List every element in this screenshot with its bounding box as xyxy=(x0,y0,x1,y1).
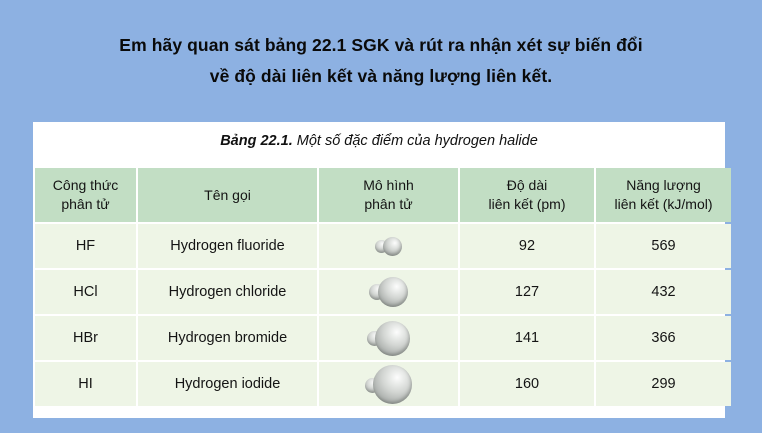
cell-bond-energy: 366 xyxy=(596,316,731,360)
question-heading: Em hãy quan sát bảng 22.1 SGK và rút ra … xyxy=(0,30,762,92)
cell-model xyxy=(319,362,458,406)
cell-formula: HI xyxy=(35,362,136,406)
question-line-1: Em hãy quan sát bảng 22.1 SGK và rút ra … xyxy=(0,30,762,61)
cell-bond-energy: 569 xyxy=(596,224,731,268)
hi-molecule-model-icon xyxy=(354,363,424,405)
slide-canvas: Em hãy quan sát bảng 22.1 SGK và rút ra … xyxy=(0,0,762,433)
column-header-name: Tên gọi xyxy=(138,168,317,222)
question-line-2: về độ dài liên kết và năng lượng liên kế… xyxy=(0,61,762,92)
cell-formula: HBr xyxy=(35,316,136,360)
cell-name: Hydrogen bromide xyxy=(138,316,317,360)
cell-bond-energy: 432 xyxy=(596,270,731,314)
cell-name: Hydrogen fluoride xyxy=(138,224,317,268)
hydrogen-halide-table: Công thức phân tử Tên gọi Mô hình phân t… xyxy=(33,166,733,408)
table-header-row: Công thức phân tử Tên gọi Mô hình phân t… xyxy=(35,168,731,222)
cell-model xyxy=(319,224,458,268)
column-header-model: Mô hình phân tử xyxy=(319,168,458,222)
cell-name: Hydrogen chloride xyxy=(138,270,317,314)
table-caption-text: Một số đặc điểm của hydrogen halide xyxy=(293,133,538,149)
cell-bond-length: 141 xyxy=(460,316,594,360)
cell-formula: HF xyxy=(35,224,136,268)
chlorine-atom-sphere xyxy=(378,277,408,307)
cell-bond-length: 160 xyxy=(460,362,594,406)
fluorine-atom-sphere xyxy=(383,237,402,256)
cell-name: Hydrogen iodide xyxy=(138,362,317,406)
table-caption-label: Bảng 22.1. xyxy=(220,133,293,149)
cell-model xyxy=(319,270,458,314)
bromine-atom-sphere xyxy=(375,321,410,356)
table-caption: Bảng 22.1. Một số đặc điểm của hydrogen … xyxy=(33,133,725,149)
table-row: HBr Hydrogen bromide 141 366 xyxy=(35,316,731,360)
cell-bond-energy: 299 xyxy=(596,362,731,406)
table-row: HCl Hydrogen chloride 127 432 xyxy=(35,270,731,314)
hcl-molecule-model-icon xyxy=(354,271,424,313)
column-header-formula: Công thức phân tử xyxy=(35,168,136,222)
column-header-bond-energy: Năng lượng liên kết (kJ/mol) xyxy=(596,168,731,222)
cell-model xyxy=(319,316,458,360)
cell-bond-length: 92 xyxy=(460,224,594,268)
cell-formula: HCl xyxy=(35,270,136,314)
table-row: HI Hydrogen iodide 160 299 xyxy=(35,362,731,406)
iodine-atom-sphere xyxy=(373,365,412,404)
column-header-bond-length: Độ dài liên kết (pm) xyxy=(460,168,594,222)
table-panel: Bảng 22.1. Một số đặc điểm của hydrogen … xyxy=(33,122,725,418)
cell-bond-length: 127 xyxy=(460,270,594,314)
table-row: HF Hydrogen fluoride 92 569 xyxy=(35,224,731,268)
hf-molecule-model-icon xyxy=(354,225,424,267)
hbr-molecule-model-icon xyxy=(354,317,424,359)
